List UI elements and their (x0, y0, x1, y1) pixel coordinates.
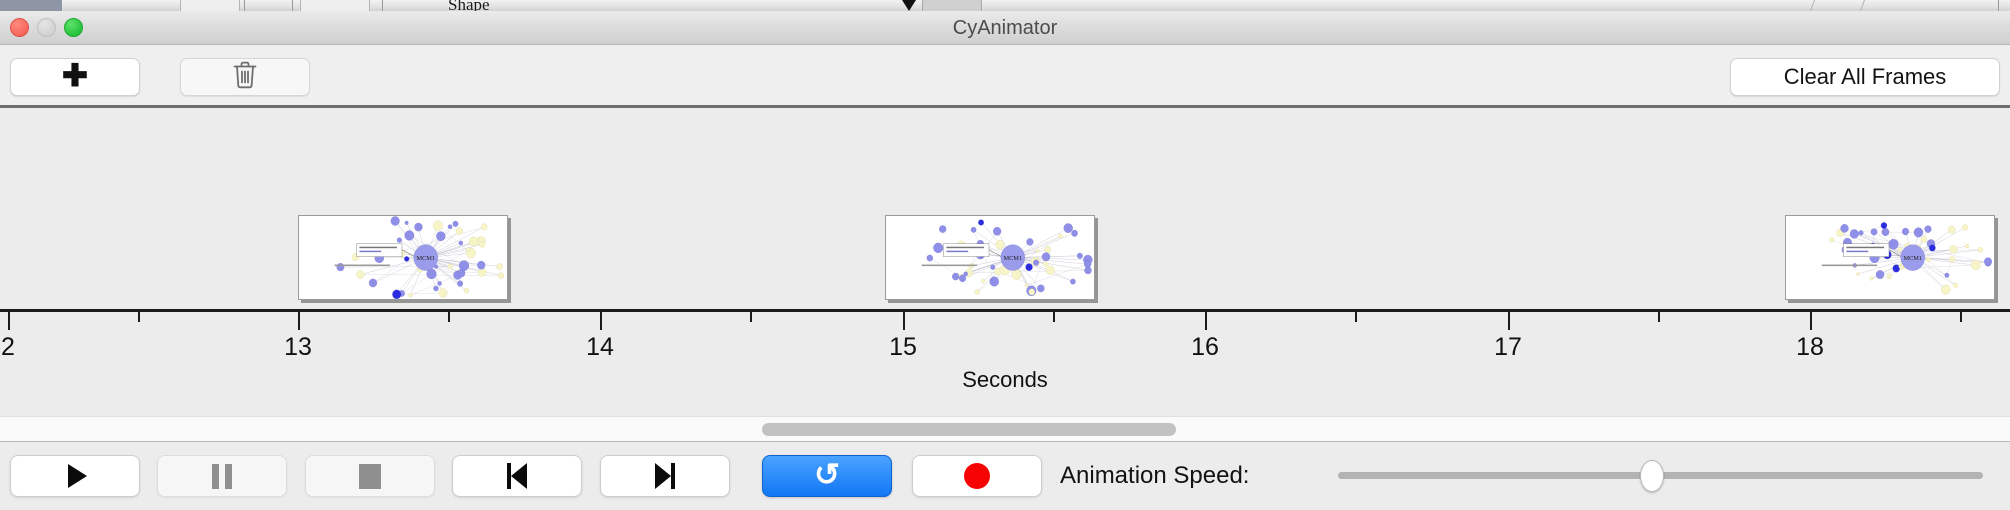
background-divider (244, 0, 245, 11)
ruler-tick-minor (448, 312, 450, 322)
record-button[interactable] (912, 455, 1042, 497)
ruler-tick-label: 15 (889, 333, 917, 362)
loop-button[interactable]: ↺ (762, 455, 892, 497)
skip-end-button[interactable] (600, 455, 730, 497)
timeline-scrollbar-thumb[interactable] (762, 423, 1176, 436)
ruler-tick-major (1810, 312, 1812, 330)
ruler-tick-major (8, 312, 10, 330)
stop-icon (359, 464, 381, 489)
clear-all-frames-button[interactable]: Clear All Frames (1730, 58, 2000, 96)
background-divider (1998, 0, 1999, 11)
animation-speed-label: Animation Speed: (1060, 455, 1249, 497)
ruler-tick-minor (1658, 312, 1660, 322)
ruler-tick-minor (138, 312, 140, 322)
timeline-ruler (0, 309, 2010, 312)
ruler-tick-major (600, 312, 602, 330)
timeline-frame-thumbnail[interactable]: MCM1 (885, 215, 1095, 300)
background-divider (382, 0, 383, 11)
ruler-tick-minor (750, 312, 752, 322)
ruler-tick-minor (1960, 312, 1962, 322)
background-divider (1810, 0, 1815, 11)
svg-text:MCM1: MCM1 (1003, 255, 1022, 262)
timeline-panel[interactable]: MCM1MCM1MCM1 2131415161718 Seconds (0, 111, 2010, 416)
skip-to-end-icon (655, 463, 675, 489)
skip-start-button[interactable] (452, 455, 582, 497)
play-button[interactable] (10, 455, 140, 497)
stop-button[interactable] (305, 455, 435, 497)
zoom-button[interactable] (64, 18, 83, 37)
ruler-tick-label: 2 (1, 333, 15, 362)
minimize-button[interactable] (37, 18, 56, 37)
pause-button[interactable] (157, 455, 287, 497)
timeline-scrollbar-track[interactable] (0, 416, 2010, 442)
clear-all-frames-label: Clear All Frames (1784, 64, 1947, 90)
plus-icon: ✚ (62, 60, 88, 91)
axis-title: Seconds (0, 367, 2010, 393)
trash-icon (232, 60, 258, 95)
close-button[interactable] (10, 18, 29, 37)
delete-frame-button[interactable] (180, 58, 310, 96)
svg-text:MCM1: MCM1 (416, 255, 435, 262)
background-selected-cell (0, 0, 62, 11)
ruler-tick-minor (1053, 312, 1055, 322)
background-app-strip: Shape (0, 0, 2010, 11)
cyanimator-window: Shape CyAnimator ✚ (0, 0, 2010, 510)
background-label: Shape (448, 0, 490, 11)
ruler-tick-major (903, 312, 905, 330)
background-cell (922, 0, 982, 11)
toolbar: ✚ Clear All Frames (0, 45, 2010, 108)
ruler-tick-label: 14 (586, 333, 614, 362)
ruler-tick-major (1205, 312, 1207, 330)
play-icon (68, 464, 87, 488)
ruler-tick-label: 18 (1796, 333, 1824, 362)
traffic-light-group (10, 18, 83, 37)
svg-text:MCM1: MCM1 (1903, 255, 1922, 262)
timeline-frame-thumbnail[interactable]: MCM1 (298, 215, 508, 300)
ruler-tick-major (1508, 312, 1510, 330)
background-cell (300, 0, 370, 11)
ruler-tick-label: 17 (1494, 333, 1522, 362)
ruler-tick-label: 13 (284, 333, 312, 362)
loop-icon: ↺ (814, 459, 840, 490)
animation-speed-slider-thumb[interactable] (1640, 460, 1664, 492)
ruler-tick-minor (1355, 312, 1357, 322)
background-cell (180, 0, 240, 11)
window-title: CyAnimator (0, 11, 2010, 45)
background-divider (292, 0, 293, 11)
transport-bar: ↺ Animation Speed: (0, 443, 2010, 510)
add-frame-button[interactable]: ✚ (10, 58, 140, 96)
background-marker-icon (902, 0, 916, 11)
record-icon (964, 463, 990, 489)
pause-icon (212, 464, 232, 489)
skip-to-start-icon (507, 463, 527, 489)
ruler-tick-major (298, 312, 300, 330)
background-divider (1860, 0, 1865, 11)
ruler-tick-label: 16 (1191, 333, 1219, 362)
title-bar[interactable]: CyAnimator (0, 11, 2010, 45)
timeline-frame-thumbnail[interactable]: MCM1 (1785, 215, 1995, 300)
